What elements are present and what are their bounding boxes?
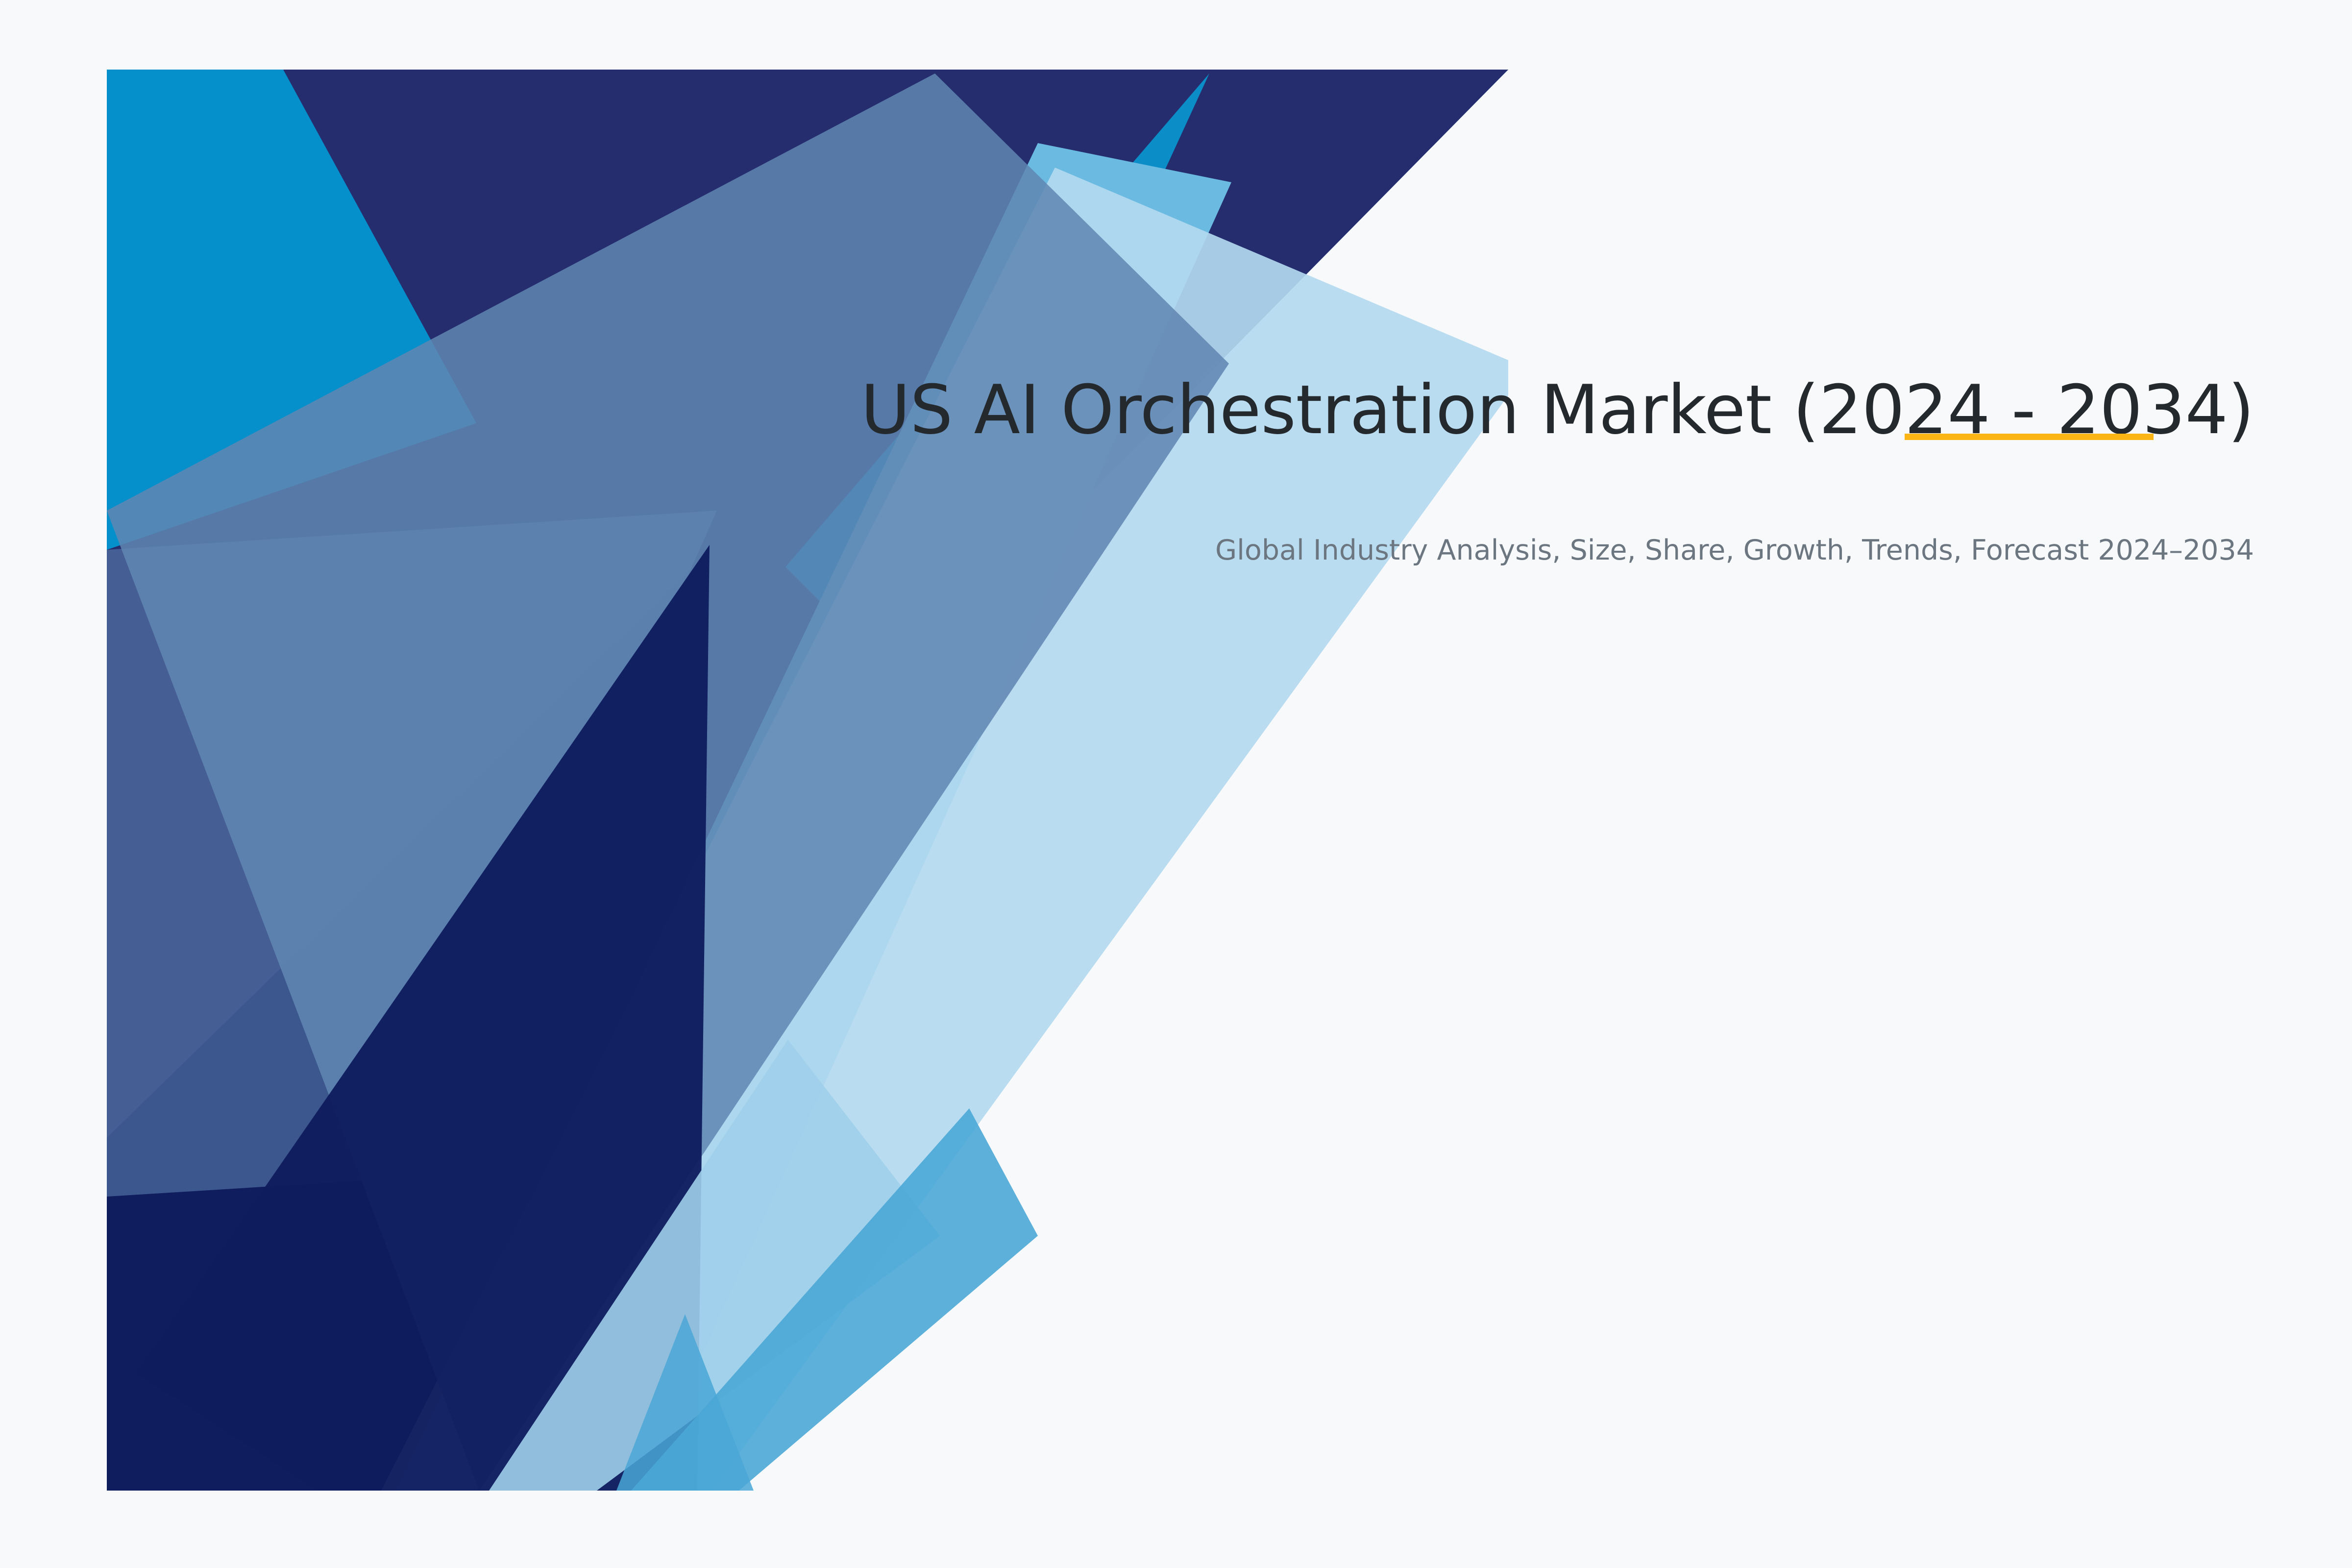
title-wrapper: US AI Orchestration Market (2024 - 2034) xyxy=(808,372,2254,448)
title-text-block: US AI Orchestration Market (2024 - 2034)… xyxy=(808,372,2254,569)
title-slide: US AI Orchestration Market (2024 - 2034)… xyxy=(0,0,2352,1568)
title-accent-underline xyxy=(1905,434,2154,440)
abstract-geometric-artwork xyxy=(107,70,1508,1491)
page-subtitle: Global Industry Analysis, Size, Share, G… xyxy=(808,532,2254,570)
